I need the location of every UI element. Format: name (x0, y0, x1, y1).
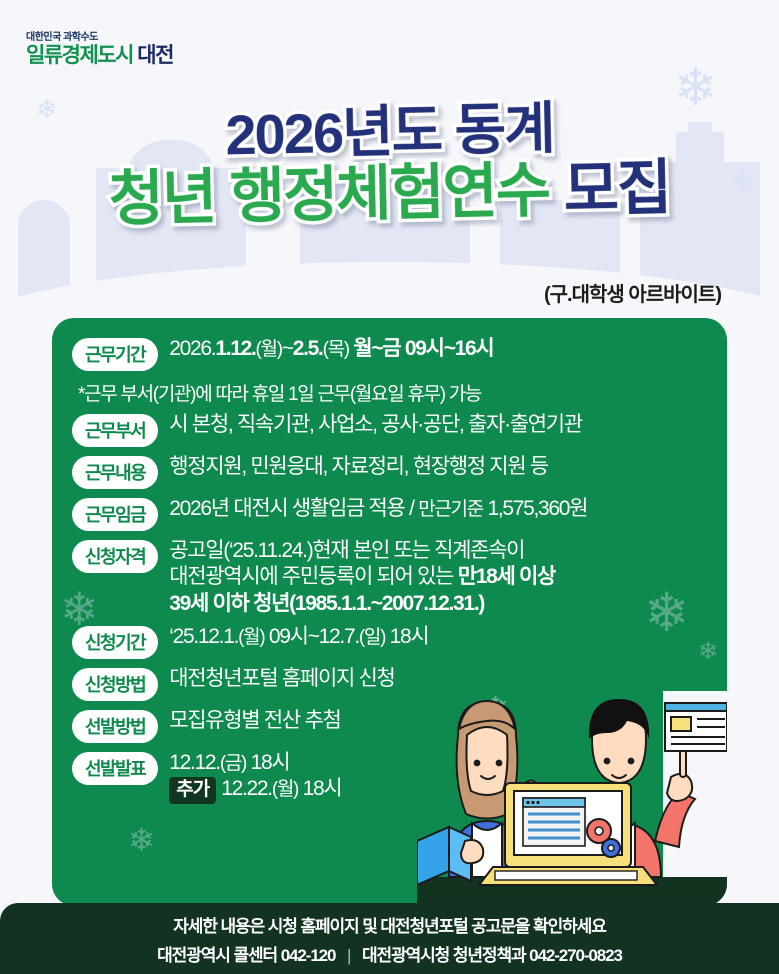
info-row-value: 대전청년포털 홈페이지 신청 (169, 666, 394, 692)
title-line-2-green: 청년 행정체험연수 (108, 157, 550, 233)
work-period-note: *근무 부서(기관)에 따라 휴일 1일 근무(월요일 휴무) 가능 (52, 378, 727, 412)
info-row: 근무임금2026년 대전시 생활임금 적용 / 만근기준 1,575,360원 (52, 496, 727, 531)
building-silhouette (18, 218, 70, 328)
title-line-2-navy: 모집 (563, 154, 671, 223)
footer-department: 대전광역시청 청년정책과 042-270-0823 (362, 946, 622, 965)
snowflake-icon: ❄ (128, 824, 155, 856)
info-row-value: 시 본청, 직속기관, 사업소, 공사·공단, 출자·출연기관 (169, 412, 582, 438)
info-row: 근무내용행정지원, 민원응대, 자료정리, 현장행정 지원 등 (52, 454, 727, 489)
info-row-value: 행정지원, 민원응대, 자료정리, 현장행정 지원 등 (169, 454, 548, 480)
footer-separator: | (347, 946, 350, 965)
logo-tagline: 대한민국 과학수도 (26, 28, 173, 43)
poster-title: 2026년도 동계 청년 행정체험연수 모집 (0, 104, 779, 224)
info-row-value: ‘25.12.1.(월) 09시~12.7.(일) 18시 (169, 624, 428, 650)
logo-name-navy: 대전 (137, 44, 173, 67)
footer-bar: 자세한 내용은 시청 홈페이지 및 대전청년포털 공고문을 확인하세요 대전광역… (0, 903, 779, 974)
info-row: 근무부서시 본청, 직속기관, 사업소, 공사·공단, 출자·출연기관 (52, 412, 727, 447)
poster-subtitle: (구.대학생 아르바이트) (544, 278, 721, 307)
info-row-label: 근무내용 (72, 456, 158, 489)
info-row-value: 모집유형별 전산 추첨 (169, 708, 340, 734)
info-row-label: 근무임금 (72, 498, 158, 531)
footer-notice: 자세한 내용은 시청 홈페이지 및 대전청년포털 공고문을 확인하세요 (0, 912, 779, 937)
info-row-value: 2026.1.12.(월)~2.5.(목) 월~금 09시~16시 (169, 336, 493, 362)
info-row-label: 신청기간 (72, 626, 158, 659)
info-row: 근무기간2026.1.12.(월)~2.5.(목) 월~금 09시~16시 (52, 336, 727, 371)
logo-name: 일류경제도시 대전 (26, 45, 173, 66)
logo-name-green: 일류경제도시 (26, 44, 133, 67)
info-row-label: 신청자격 (72, 540, 158, 573)
footer-contacts: 대전광역시 콜센터 042-120 | 대전광역시청 청년정책과 042-270… (0, 941, 779, 966)
info-row-value: 12.12.(금) 18시추가12.22.(월) 18시 (169, 750, 341, 804)
info-row-label: 선발방법 (72, 710, 158, 743)
info-row-label: 근무부서 (72, 414, 158, 447)
title-line-2: 청년 행정체험연수 모집 (0, 156, 779, 232)
info-row-label: 근무기간 (72, 338, 158, 371)
info-panel: ❄ ❄ ❄ ❄ ❄ 근무기간2026.1.12.(월)~2.5.(목) 월~금 … (52, 318, 727, 906)
info-row-value: 공고일(‘25.11.24.)현재 본인 또는 직계존속이대전광역시에 주민등록… (169, 538, 555, 617)
info-row-value: 2026년 대전시 생활임금 적용 / 만근기준 1,575,360원 (169, 496, 587, 522)
document-card-icon (665, 703, 727, 751)
info-row: 신청기간‘25.12.1.(월) 09시~12.7.(일) 18시 (52, 624, 727, 659)
illustration-students (417, 691, 727, 906)
city-logo: 대한민국 과학수도 일류경제도시 대전 (26, 28, 173, 66)
info-row-label: 선발발표 (72, 752, 158, 785)
footer-call-center: 대전광역시 콜센터 042-120 (157, 946, 335, 965)
info-row: 신청자격공고일(‘25.11.24.)현재 본인 또는 직계존속이대전광역시에 … (52, 538, 727, 617)
laptop-icon (479, 783, 657, 885)
info-row-label: 신청방법 (72, 668, 158, 701)
poster-root: ❄ ❄ ❄ 대한민국 과학수도 일류경제도시 대전 2026년도 동계 청년 행… (0, 0, 779, 974)
